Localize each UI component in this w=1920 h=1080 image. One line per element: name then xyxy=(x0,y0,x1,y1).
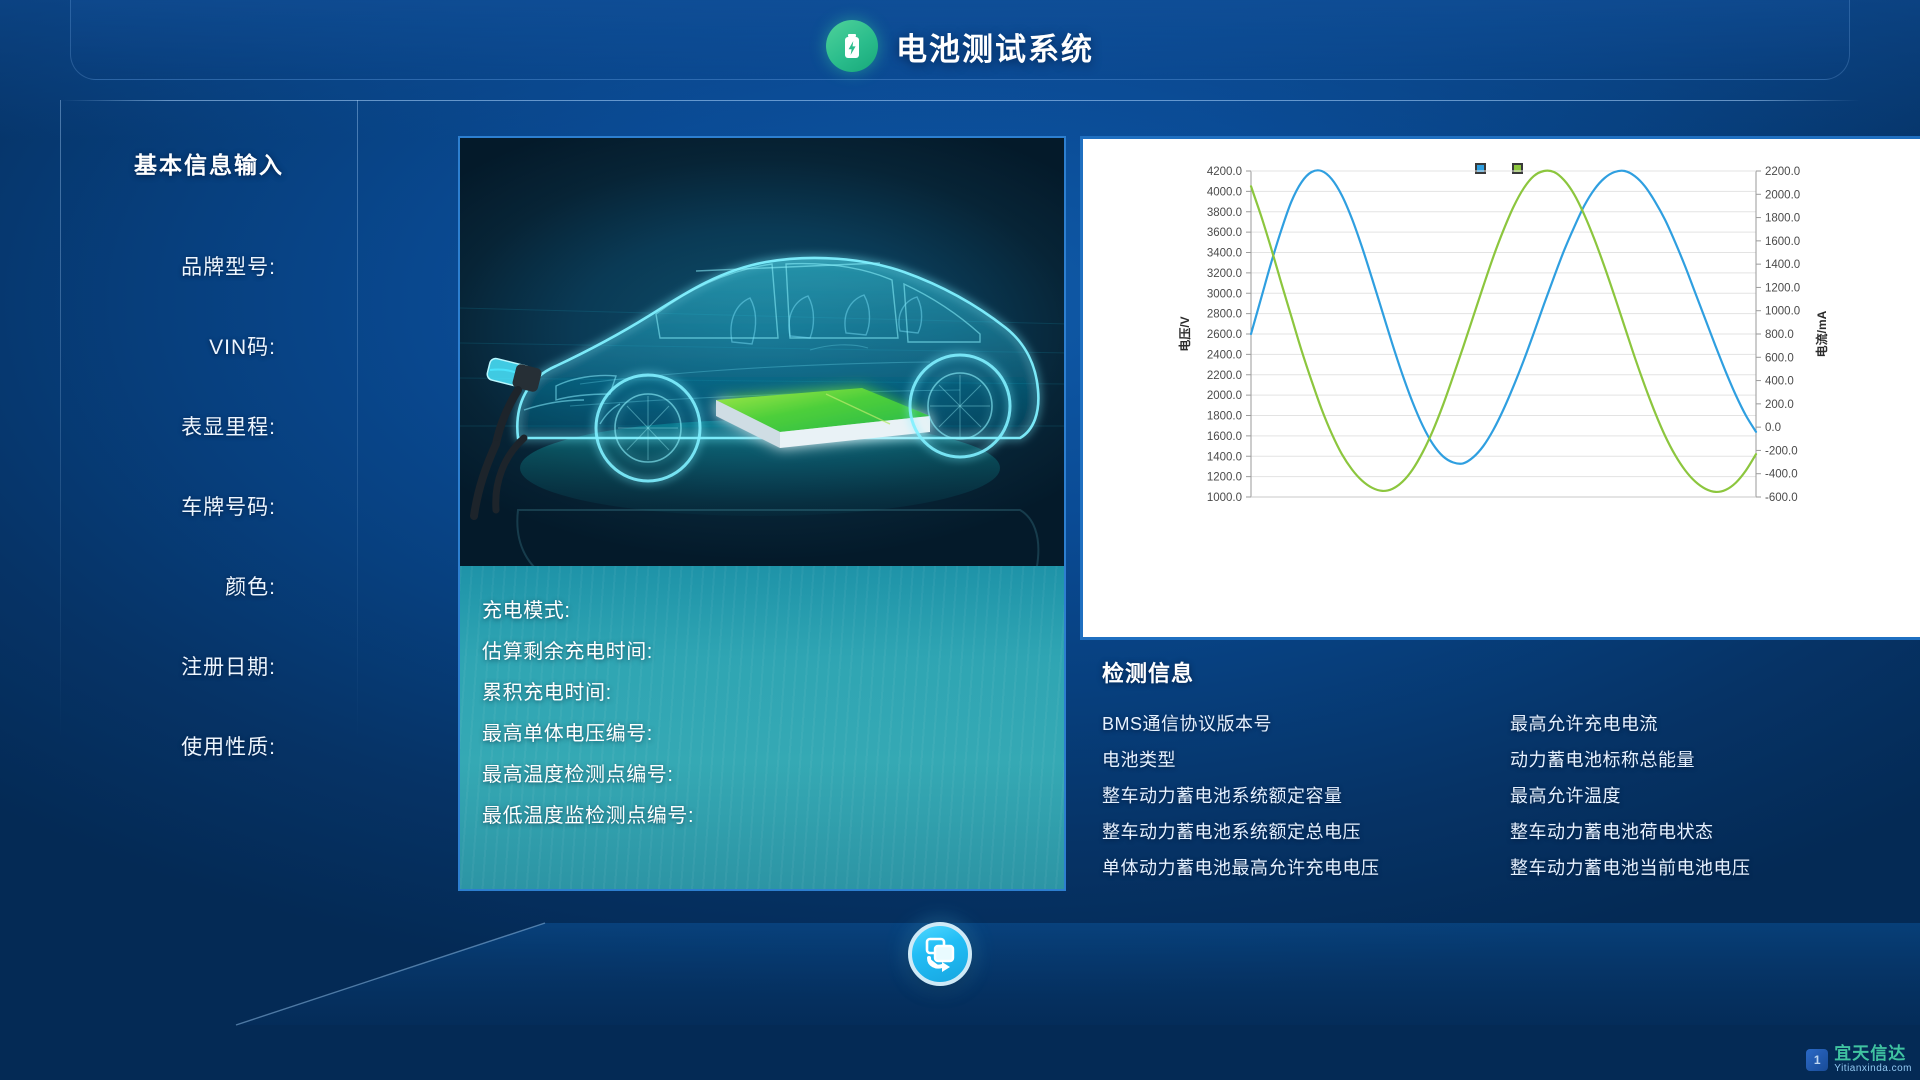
charging-info-fields: 充电模式: 估算剩余充电时间: 累积充电时间: 最高单体电压编号: 最高温度检测… xyxy=(460,566,1066,891)
form-row-color: 颜色: xyxy=(60,546,358,626)
field-label-plate-number: 车牌号码: xyxy=(60,491,282,521)
svg-text:4200.0: 4200.0 xyxy=(1207,166,1242,178)
form-row-charging-mode: 充电模式: xyxy=(482,588,1066,629)
page-title: 电池测试系统 xyxy=(896,24,1094,69)
svg-text:2200.0: 2200.0 xyxy=(1765,166,1800,178)
chart-svg: 4200.04000.03800.03600.03400.03200.03000… xyxy=(1083,139,1920,640)
watermark: 1 宜天信达 Yitianxinda.com xyxy=(1806,1045,1912,1074)
vehicle-panel: 充电模式: 估算剩余充电时间: 累积充电时间: 最高单体电压编号: 最高温度检测… xyxy=(458,136,1066,891)
detection-info-left-column: BMS通信协议版本号 电池类型 整车动力蓄电池系统额定容量 整车动力蓄电池系统额… xyxy=(1102,706,1510,886)
svg-text:1600.0: 1600.0 xyxy=(1207,431,1242,443)
info-item-max-charge-current: 最高允许充电电流 xyxy=(1510,706,1918,742)
info-item-nominal-total-energy: 动力蓄电池标称总能量 xyxy=(1510,742,1918,778)
field-label-color: 颜色: xyxy=(60,571,282,601)
svg-text:电压/V: 电压/V xyxy=(1177,316,1192,351)
form-row-min-temperature-probe-number: 最低温度监检测点编号: xyxy=(482,793,1066,834)
info-item-current-battery-voltage: 整车动力蓄电池当前电池电压 xyxy=(1510,850,1918,886)
svg-text:2000.0: 2000.0 xyxy=(1765,189,1800,201)
info-item-state-of-charge: 整车动力蓄电池荷电状态 xyxy=(1510,814,1918,850)
field-label-charging-mode: 充电模式: xyxy=(482,594,571,623)
svg-text:400.0: 400.0 xyxy=(1765,376,1794,388)
svg-text:3800.0: 3800.0 xyxy=(1207,207,1242,219)
svg-text:2200.0: 2200.0 xyxy=(1207,370,1242,382)
svg-text:2000.0: 2000.0 xyxy=(1207,390,1242,402)
info-item-rated-capacity: 整车动力蓄电池系统额定容量 xyxy=(1102,778,1510,814)
form-row-max-cell-voltage-number: 最高单体电压编号: xyxy=(482,711,1066,752)
basic-info-panel: 基本信息输入 品牌型号: VIN码: 表显里程: 车牌号码: 颜色: 注册日期:… xyxy=(60,100,358,740)
info-item-bms-protocol-version: BMS通信协议版本号 xyxy=(1102,706,1510,742)
detection-info-title: 检测信息 xyxy=(1102,656,1920,688)
detection-info-panel: 检测信息 BMS通信协议版本号 电池类型 整车动力蓄电池系统额定容量 整车动力蓄… xyxy=(1080,640,1920,890)
info-item-max-allowed-temperature: 最高允许温度 xyxy=(1510,778,1918,814)
switch-windows-refresh-icon xyxy=(920,934,960,974)
form-row-plate-number: 车牌号码: xyxy=(60,466,358,546)
svg-text:1400.0: 1400.0 xyxy=(1207,451,1242,463)
form-row-max-temperature-probe-number: 最高温度检测点编号: xyxy=(482,752,1066,793)
info-item-max-cell-charge-voltage: 单体动力蓄电池最高允许充电电压 xyxy=(1102,850,1510,886)
measurement-chart-panel: 4200.04000.03800.03600.03400.03200.03000… xyxy=(1080,136,1920,640)
svg-text:800.0: 800.0 xyxy=(1765,329,1794,341)
svg-text:1800.0: 1800.0 xyxy=(1765,213,1800,225)
switch-refresh-button[interactable] xyxy=(908,922,972,986)
form-row-vin: VIN码: xyxy=(60,306,358,386)
field-label-usage-type: 使用性质: xyxy=(60,731,282,761)
watermark-text-en: Yitianxinda.com xyxy=(1834,1064,1912,1074)
svg-text:1200.0: 1200.0 xyxy=(1207,472,1242,484)
svg-text:1400.0: 1400.0 xyxy=(1765,259,1800,271)
field-label-max-temperature-probe-number: 最高温度检测点编号: xyxy=(482,758,674,787)
field-label-cumulative-charge-time: 累积充电时间: xyxy=(482,676,612,705)
field-label-brand-model: 品牌型号: xyxy=(60,251,282,281)
info-item-rated-total-voltage: 整车动力蓄电池系统额定总电压 xyxy=(1102,814,1510,850)
info-item-battery-type: 电池类型 xyxy=(1102,742,1510,778)
field-label-max-cell-voltage-number: 最高单体电压编号: xyxy=(482,717,653,746)
watermark-text-cn: 宜天信达 xyxy=(1834,1045,1912,1062)
svg-text:1200.0: 1200.0 xyxy=(1765,282,1800,294)
basic-info-title: 基本信息输入 xyxy=(60,146,358,180)
form-row-estimated-remaining-charge-time: 估算剩余充电时间: xyxy=(482,629,1066,670)
svg-text:1000.0: 1000.0 xyxy=(1207,492,1242,504)
svg-text:200.0: 200.0 xyxy=(1765,399,1794,411)
form-row-brand-model: 品牌型号: xyxy=(60,226,358,306)
svg-text:电流/mA: 电流/mA xyxy=(1814,310,1829,357)
field-label-estimated-remaining-charge-time: 估算剩余充电时间: xyxy=(482,635,653,664)
svg-text:2600.0: 2600.0 xyxy=(1207,329,1242,341)
form-row-mileage: 表显里程: xyxy=(60,386,358,466)
detection-info-right-column: 最高允许充电电流 动力蓄电池标称总能量 最高允许温度 整车动力蓄电池荷电状态 整… xyxy=(1510,706,1918,886)
svg-text:3400.0: 3400.0 xyxy=(1207,248,1242,260)
field-label-min-temperature-probe-number: 最低温度监检测点编号: xyxy=(482,799,694,828)
svg-text:3600.0: 3600.0 xyxy=(1207,227,1242,239)
svg-text:2400.0: 2400.0 xyxy=(1207,349,1242,361)
field-label-registration-date: 注册日期: xyxy=(60,651,282,681)
svg-text:-400.0: -400.0 xyxy=(1765,469,1798,481)
base-plinth xyxy=(0,895,1920,1080)
svg-text:-200.0: -200.0 xyxy=(1765,445,1798,457)
form-row-cumulative-charge-time: 累积充电时间: xyxy=(482,670,1066,711)
svg-text:1000.0: 1000.0 xyxy=(1765,306,1800,318)
field-label-vin: VIN码: xyxy=(60,331,282,361)
svg-text:1600.0: 1600.0 xyxy=(1765,236,1800,248)
form-row-usage-type: 使用性质: xyxy=(60,706,358,786)
svg-text:600.0: 600.0 xyxy=(1765,352,1794,364)
form-row-registration-date: 注册日期: xyxy=(60,626,358,706)
svg-text:2800.0: 2800.0 xyxy=(1207,309,1242,321)
battery-bolt-icon xyxy=(826,20,878,72)
svg-text:1800.0: 1800.0 xyxy=(1207,411,1242,423)
svg-text:4000.0: 4000.0 xyxy=(1207,186,1242,198)
svg-text:3200.0: 3200.0 xyxy=(1207,268,1242,280)
svg-text:0.0: 0.0 xyxy=(1765,422,1781,434)
field-label-mileage: 表显里程: xyxy=(60,411,282,441)
vehicle-xray-image xyxy=(460,138,1066,568)
svg-text:-600.0: -600.0 xyxy=(1765,492,1798,504)
svg-text:3000.0: 3000.0 xyxy=(1207,288,1242,300)
watermark-logo-icon: 1 xyxy=(1806,1049,1828,1071)
app-header: 电池测试系统 xyxy=(0,0,1920,92)
chart-plot-area[interactable]: 4200.04000.03800.03600.03400.03200.03000… xyxy=(1083,139,1920,640)
